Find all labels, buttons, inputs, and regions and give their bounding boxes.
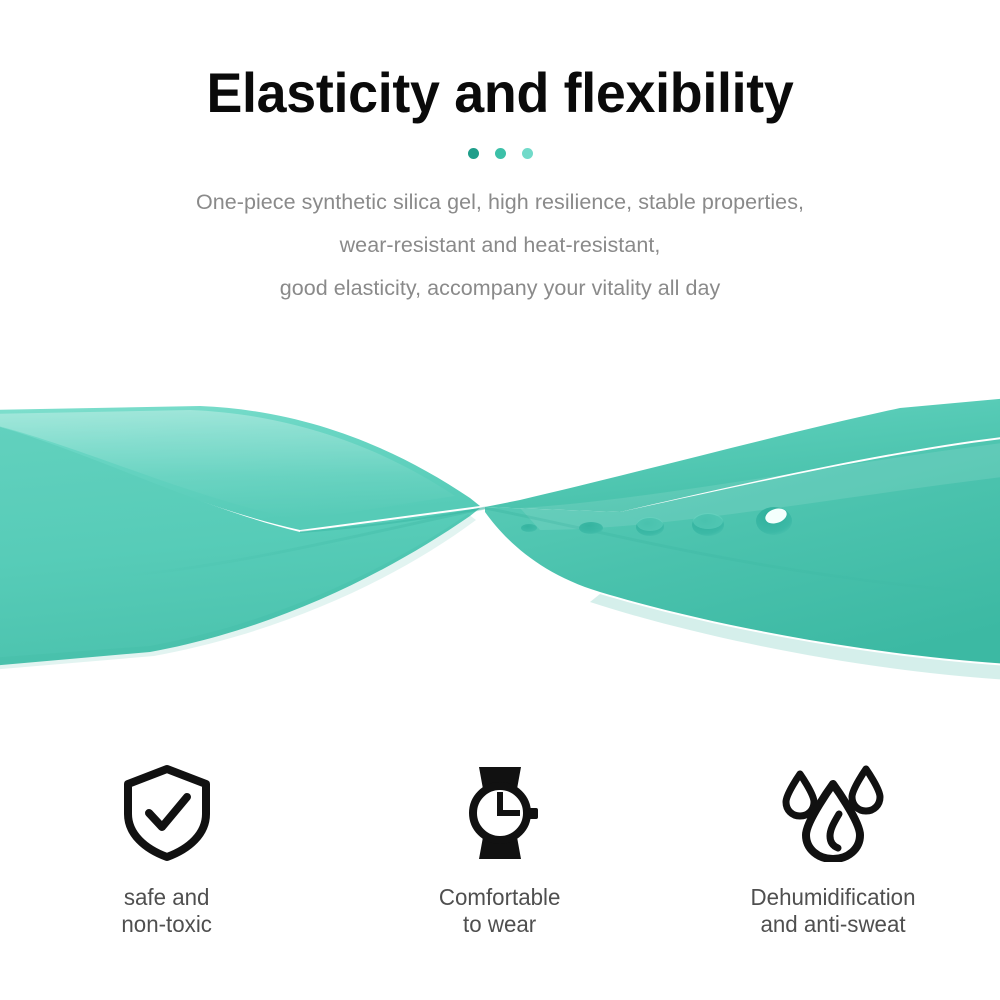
feature-label-line-1: safe and: [121, 884, 212, 911]
feature-label-line-2: and anti-sweat: [751, 911, 916, 938]
feature-label-line-1: Comfortable: [439, 884, 561, 911]
feature-label-line-2: to wear: [439, 911, 561, 938]
feature-label-dehumidification: Dehumidification and anti-sweat: [751, 884, 916, 938]
adjustment-hole-3-rim: [637, 517, 663, 531]
subtitle-line-2: wear-resistant and heat-resistant,: [0, 224, 1000, 267]
header: Elasticity and flexibility One-piece syn…: [0, 0, 1000, 310]
twisted-silicone-watch-band-illustration: [0, 380, 1000, 690]
separator-dot-3: [522, 148, 533, 159]
product-feature-page: Elasticity and flexibility One-piece syn…: [0, 0, 1000, 1000]
feature-label-comfortable-to-wear: Comfortable to wear: [439, 884, 561, 938]
feature-list: safe and non-toxic: [0, 762, 1000, 938]
adjustment-hole-2: [579, 522, 603, 534]
feature-dehumidification: Dehumidification and anti-sweat: [667, 762, 1000, 938]
adjustment-hole-4-rim: [693, 513, 723, 529]
separator-dot-2: [495, 148, 506, 159]
feature-label-line-1: Dehumidification: [751, 884, 916, 911]
shield-check-icon: [121, 762, 213, 862]
feature-comfortable-to-wear: Comfortable to wear: [333, 762, 666, 938]
three-dot-separator: [0, 124, 1000, 159]
separator-dot-1: [468, 148, 479, 159]
subtitle-line-1: One-piece synthetic silica gel, high res…: [0, 181, 1000, 224]
feature-safe-non-toxic: safe and non-toxic: [0, 762, 333, 938]
water-droplets-icon: [778, 762, 888, 862]
product-photo: [0, 380, 1000, 690]
subtitle-line-3: good elasticity, accompany your vitality…: [0, 267, 1000, 310]
subtitle-paragraph: One-piece synthetic silica gel, high res…: [0, 159, 1000, 310]
feature-label-safe-non-toxic: safe and non-toxic: [121, 884, 212, 938]
feature-label-line-2: non-toxic: [121, 911, 212, 938]
wristwatch-icon: [457, 762, 543, 862]
page-title: Elasticity and flexibility: [20, 0, 980, 124]
adjustment-hole-1: [521, 524, 537, 532]
